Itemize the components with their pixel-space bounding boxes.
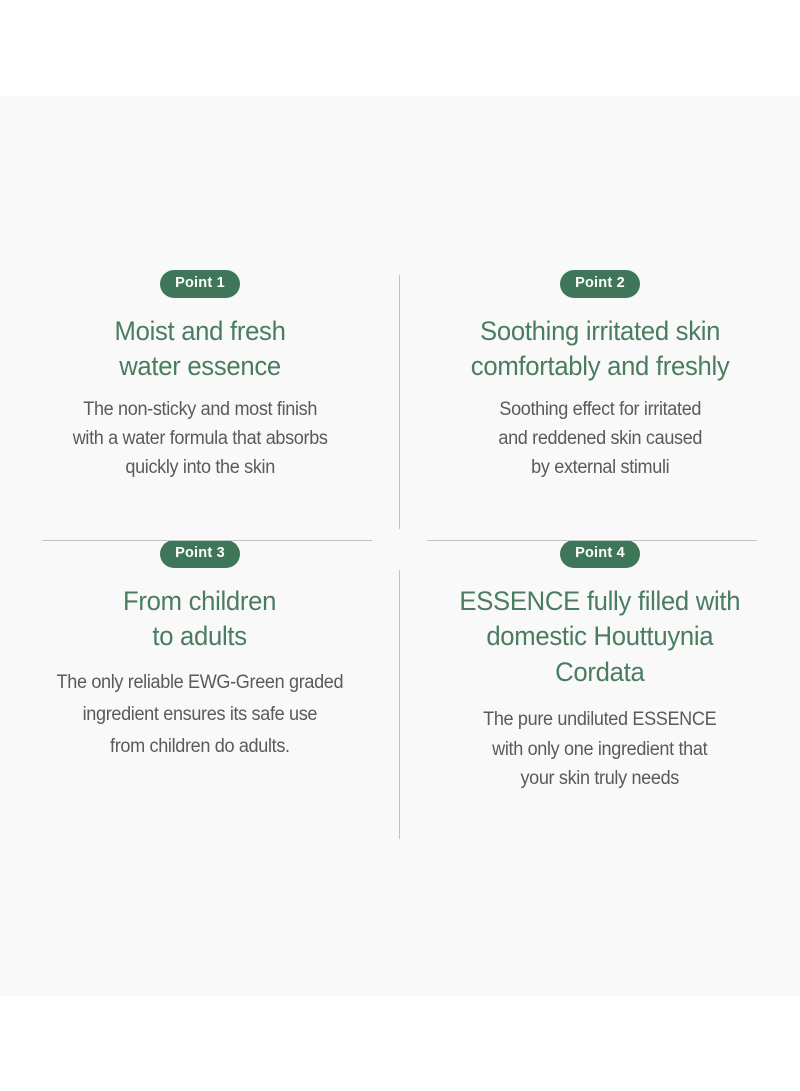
points-grid: Point 1 Moist and fresh water essence Th… <box>0 270 800 830</box>
body-line: The only reliable EWG-Green graded <box>57 667 344 699</box>
point-body-2: Soothing effect for irritated and redden… <box>498 396 702 483</box>
point-card-1: Point 1 Moist and fresh water essence Th… <box>0 270 400 540</box>
product-points-page: Point 1 Moist and fresh water essence Th… <box>0 0 800 1091</box>
point-badge-2: Point 2 <box>560 270 640 298</box>
horizontal-divider-left <box>42 540 372 541</box>
point-badge-4: Point 4 <box>560 540 640 568</box>
point-headline-4: ESSENCE fully filled with domestic Houtt… <box>460 584 741 692</box>
point-body-4: The pure undiluted ESSENCE with only one… <box>483 705 716 793</box>
vertical-divider-top <box>399 275 400 529</box>
point-body-1: The non-sticky and most finish with a wa… <box>73 396 328 483</box>
body-line: with only one ingredient that <box>483 735 716 764</box>
point-headline-3: From children to adults <box>123 584 276 656</box>
point-card-2: Point 2 Soothing irritated skin comforta… <box>400 270 800 540</box>
headline-line: From children <box>123 584 276 620</box>
body-line: from children do adults. <box>57 731 344 763</box>
body-line: ingredient ensures its safe use <box>57 699 344 731</box>
body-line: The non-sticky and most finish <box>73 396 328 425</box>
body-line: quickly into the skin <box>73 454 328 483</box>
point-headline-1: Moist and fresh water essence <box>114 314 285 386</box>
headline-line: comfortably and freshly <box>471 349 730 385</box>
body-line: by external stimuli <box>498 454 702 483</box>
headline-line: Cordata <box>460 655 741 691</box>
headline-line: ESSENCE fully filled with <box>460 584 741 620</box>
horizontal-divider-right <box>427 540 757 541</box>
headline-line: Soothing irritated skin <box>471 314 730 350</box>
point-headline-2: Soothing irritated skin comfortably and … <box>471 314 730 386</box>
point-card-3: Point 3 From children to adults The only… <box>0 540 400 830</box>
body-line: Soothing effect for irritated <box>498 396 702 425</box>
point-badge-1: Point 1 <box>160 270 240 298</box>
body-line: with a water formula that absorbs <box>73 425 328 454</box>
headline-line: to adults <box>123 619 276 655</box>
point-card-4: Point 4 ESSENCE fully filled with domest… <box>400 540 800 830</box>
body-line: The pure undiluted ESSENCE <box>483 705 716 734</box>
point-body-3: The only reliable EWG-Green graded ingre… <box>57 667 344 763</box>
body-line: and reddened skin caused <box>498 425 702 454</box>
headline-line: Moist and fresh <box>114 314 285 350</box>
headline-line: water essence <box>114 349 285 385</box>
body-line: your skin truly needs <box>483 764 716 793</box>
point-badge-3: Point 3 <box>160 540 240 568</box>
headline-line: domestic Houttuynia <box>460 619 741 655</box>
vertical-divider-bottom <box>399 570 400 839</box>
